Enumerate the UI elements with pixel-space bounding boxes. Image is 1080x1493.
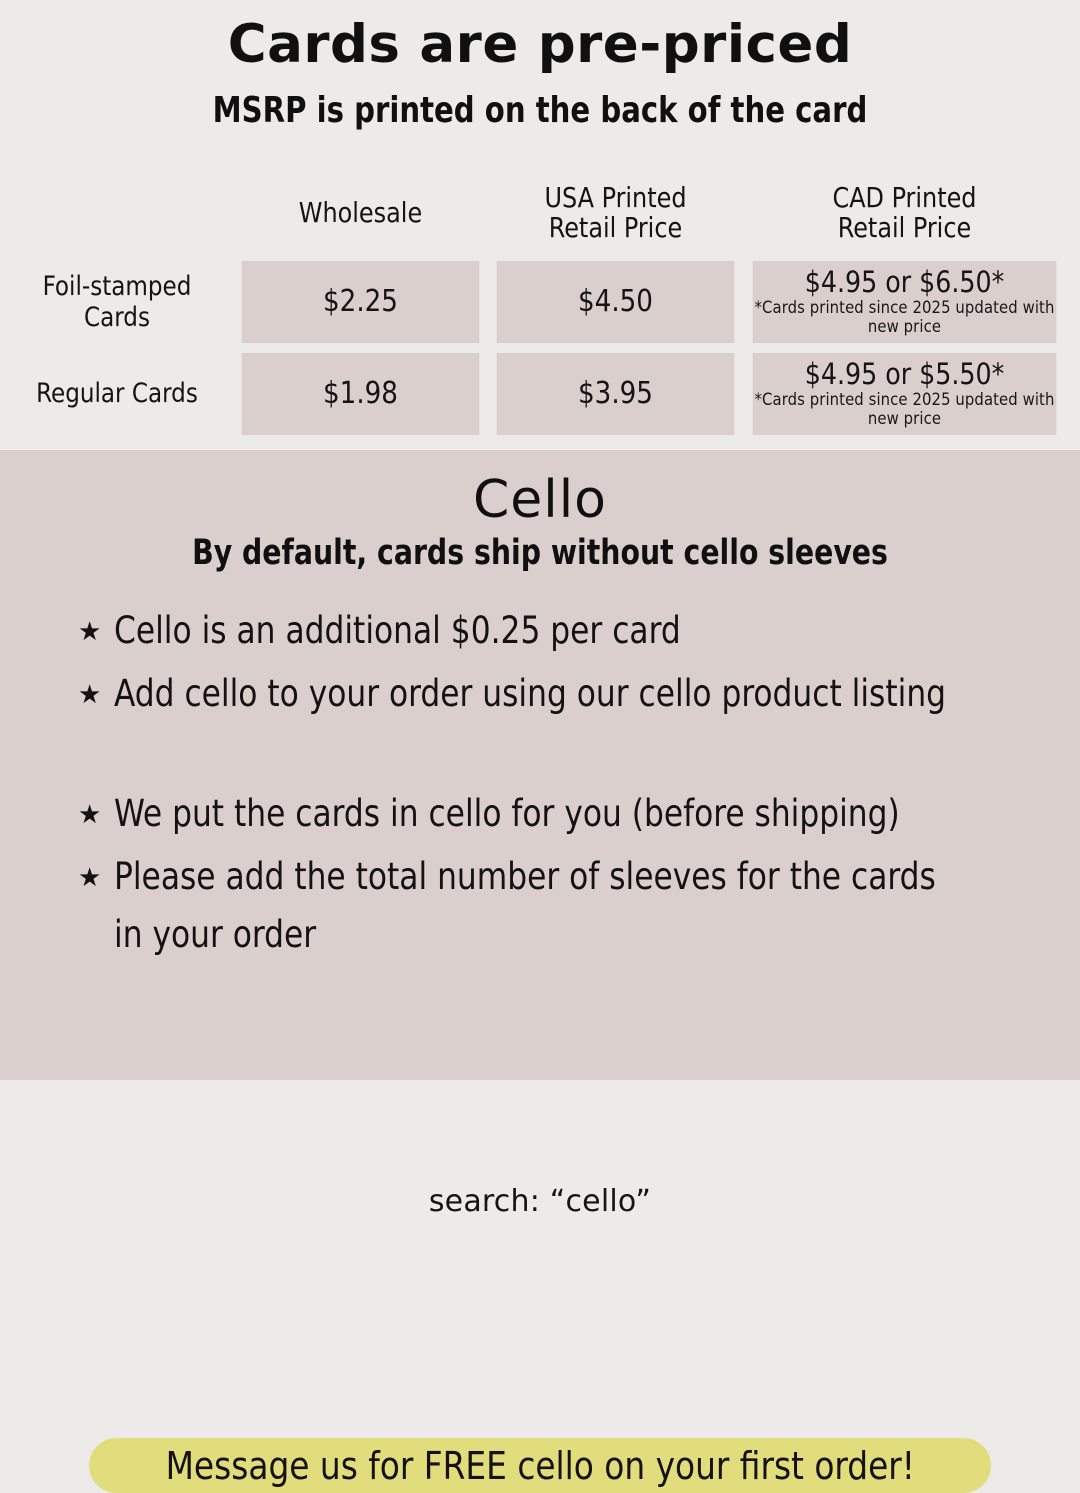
column-header-wholesale: Wholesale xyxy=(244,175,477,251)
row-header-foil-stamped: Foil-stamped Cards xyxy=(12,261,223,343)
page-title: Cards are pre-priced xyxy=(0,14,1080,75)
cell-foil-wholesale: $2.25 xyxy=(242,261,480,343)
column-header-cad-retail: CAD Printed Retail Price xyxy=(756,175,1053,251)
list-item-label: Add cello to your order using our cello … xyxy=(114,665,966,723)
cello-section: Cello By default, cards ship without cel… xyxy=(0,450,1080,1080)
star-icon: ★ xyxy=(70,785,114,843)
row-header-regular: Regular Cards xyxy=(12,353,223,435)
cell-regular-wholesale: $1.98 xyxy=(242,353,480,435)
page-subtitle: MSRP is printed on the back of the card xyxy=(54,90,1026,131)
list-item: ★ Cello is an additional $0.25 per card xyxy=(70,602,1020,660)
list-item: ★ We put the cards in cello for you (bef… xyxy=(70,785,1020,843)
search-hint-pill[interactable]: search: “cello” xyxy=(362,1176,718,1226)
list-item-label: We put the cards in cello for you (befor… xyxy=(114,785,966,843)
cta-banner[interactable]: Message us for FREE cello on your first … xyxy=(89,1438,991,1493)
corner-cell xyxy=(6,175,228,251)
cad-price-note: *Cards printed since 2025 updated with n… xyxy=(753,391,1057,429)
table-row: Regular Cards $1.98 $3.95 $4.95 or $5.50… xyxy=(6,353,1061,435)
cello-subtitle: By default, cards ship without cello sle… xyxy=(54,533,1026,573)
search-hint-label: search: “cello” xyxy=(429,1184,651,1219)
cad-price-note: *Cards printed since 2025 updated with n… xyxy=(753,299,1057,337)
table-header-row: Wholesale USA Printed Retail Price CAD P… xyxy=(6,175,1061,251)
star-icon: ★ xyxy=(70,602,114,660)
list-item: ★ Add cello to your order using our cell… xyxy=(70,665,1020,723)
list-item-label: Cello is an additional $0.25 per card xyxy=(114,602,966,660)
star-icon: ★ xyxy=(70,665,114,723)
table-row: Foil-stamped Cards $2.25 $4.50 $4.95 or … xyxy=(6,261,1061,343)
pricing-section: Cards are pre-priced MSRP is printed on … xyxy=(0,0,1080,450)
star-icon: ★ xyxy=(70,848,114,906)
list-item-label: Please add the total number of sleeves f… xyxy=(114,848,966,964)
column-header-usa-retail: USA Printed Retail Price xyxy=(499,175,732,251)
cta-label: Message us for FREE cello on your first … xyxy=(165,1444,914,1488)
cell-regular-cad-retail: $4.95 or $5.50* *Cards printed since 202… xyxy=(753,353,1057,435)
cell-regular-usa-retail: $3.95 xyxy=(497,353,735,435)
cello-title: Cello xyxy=(0,470,1080,530)
list-item: ★ Please add the total number of sleeves… xyxy=(70,848,1020,964)
cell-foil-usa-retail: $4.50 xyxy=(497,261,735,343)
price-table: Wholesale USA Printed Retail Price CAD P… xyxy=(0,165,1080,445)
cello-bullet-list: ★ Cello is an additional $0.25 per card … xyxy=(70,602,1020,969)
cell-foil-cad-retail: $4.95 or $6.50* *Cards printed since 202… xyxy=(753,261,1057,343)
